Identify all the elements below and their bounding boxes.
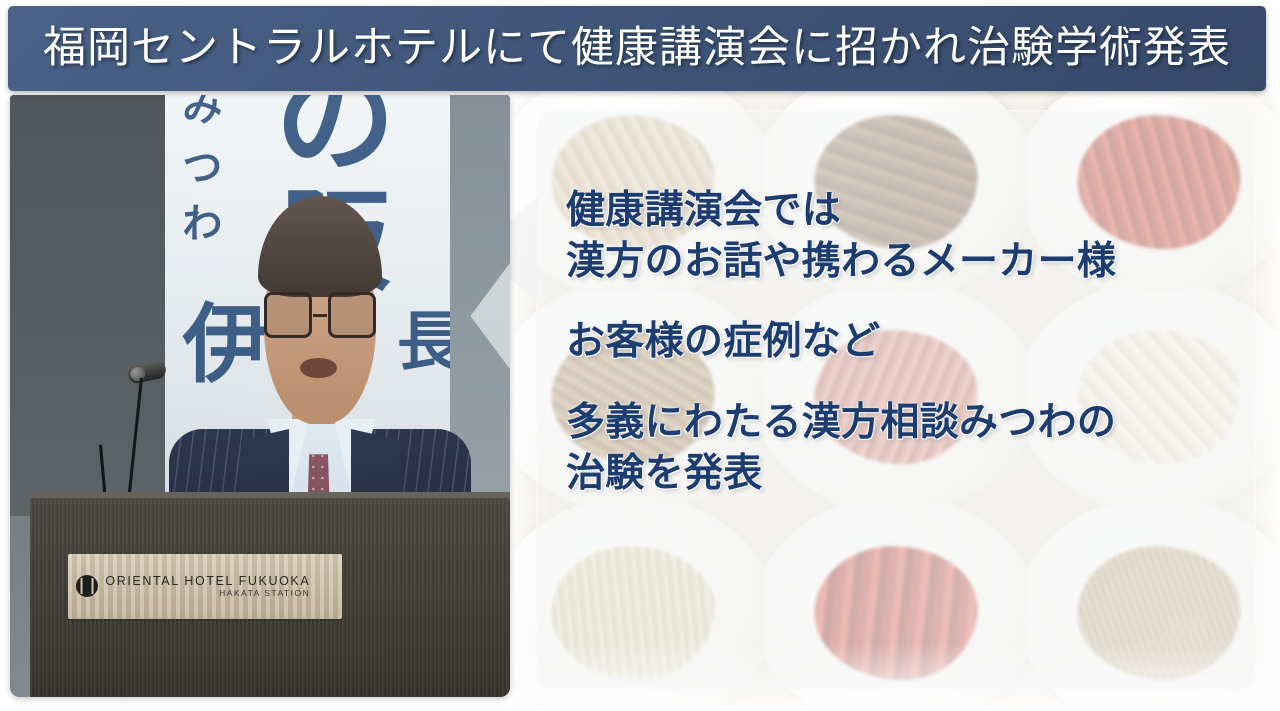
copy-line: 健康講演会では [566, 186, 1266, 237]
copy-line: お客様の症例など [566, 317, 1266, 368]
banner-char-tsu: つ [182, 135, 222, 193]
hotel-logo-icon [76, 575, 98, 597]
copy-line: 漢方のお話や携わるメーカー様 [566, 237, 1266, 288]
slide-root: 健康講演会では 漢方のお話や携わるメーカー様 お客様の症例など 多義にわたる漢方… [0, 0, 1280, 711]
plaque-hotel-name: ORIENTAL HOTEL FUKUOKA [105, 575, 310, 588]
paragraph: お客様の症例など [566, 317, 1266, 368]
banner-char-mi: み [182, 95, 222, 132]
plaque-text: ORIENTAL HOTEL FUKUOKA HAKATA STATION [105, 575, 310, 597]
body-copy: 健康講演会では 漢方のお話や携わるメーカー様 お客様の症例など 多義にわたる漢方… [566, 186, 1266, 499]
podium-top-edge [30, 492, 510, 498]
title-bar: 福岡セントラルホテルにて健康講演会に招かれ治験学術発表 [8, 6, 1266, 91]
paragraph: 多義にわたる漢方相談みつわの 治験を発表 [566, 398, 1266, 499]
glasses-bridge [313, 314, 326, 317]
eyeglasses-icon [264, 292, 376, 338]
paragraph: 健康講演会では 漢方のお話や携わるメーカー様 [566, 186, 1266, 287]
lens-left [264, 292, 312, 338]
copy-line: 治験を発表 [566, 449, 1266, 500]
lens-right [328, 292, 376, 338]
podium: ORIENTAL HOTEL FUKUOKA HAKATA STATION [30, 492, 510, 697]
speaker-photo: み つ わ の 阪 伊 長 [10, 95, 510, 697]
room-wall-shadow [10, 95, 165, 516]
copy-line: 多義にわたる漢方相談みつわの [566, 398, 1266, 449]
hair [258, 196, 381, 297]
plaque-hotel-location: HAKATA STATION [105, 589, 310, 598]
podium-plaque: ORIENTAL HOTEL FUKUOKA HAKATA STATION [68, 554, 342, 619]
page-title: 福岡セントラルホテルにて健康講演会に招かれ治験学術発表 [43, 27, 1231, 70]
